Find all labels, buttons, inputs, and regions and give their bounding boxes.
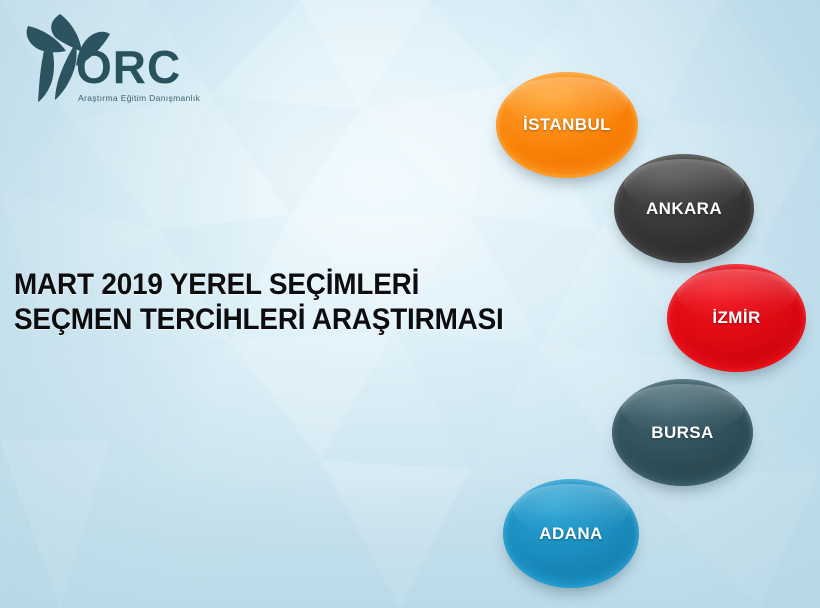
logo-tagline: Araştırma Eğitim Danışmanlık	[78, 93, 200, 103]
slide-title: MART 2019 YEREL SEÇİMLERİ SEÇMEN TERCİHL…	[14, 268, 484, 338]
city-bubble-label: İSTANBUL	[523, 115, 611, 135]
orc-logo: ORC Araştırma Eğitim Danışmanlık	[14, 8, 214, 108]
logo-wordmark: ORC	[76, 44, 181, 90]
presentation-slide: ORC Araştırma Eğitim Danışmanlık MART 20…	[0, 0, 820, 608]
city-bubble-label: İZMİR	[712, 308, 760, 328]
city-bubble-ankara[interactable]: ANKARA	[614, 154, 754, 263]
city-bubble-label: ANKARA	[646, 199, 722, 219]
city-bubble-istanbul[interactable]: İSTANBUL	[496, 72, 638, 178]
city-bubble-izmir[interactable]: İZMİR	[667, 264, 806, 372]
title-line-1: MART 2019 YEREL SEÇİMLERİ	[14, 268, 451, 303]
city-bubble-bursa[interactable]: BURSA	[612, 379, 753, 486]
city-bubble-label: ADANA	[539, 524, 602, 544]
title-line-2: SEÇMEN TERCİHLERİ ARAŞTIRMASI	[14, 303, 451, 338]
city-bubble-label: BURSA	[651, 423, 713, 443]
city-bubble-adana[interactable]: ADANA	[503, 479, 639, 588]
